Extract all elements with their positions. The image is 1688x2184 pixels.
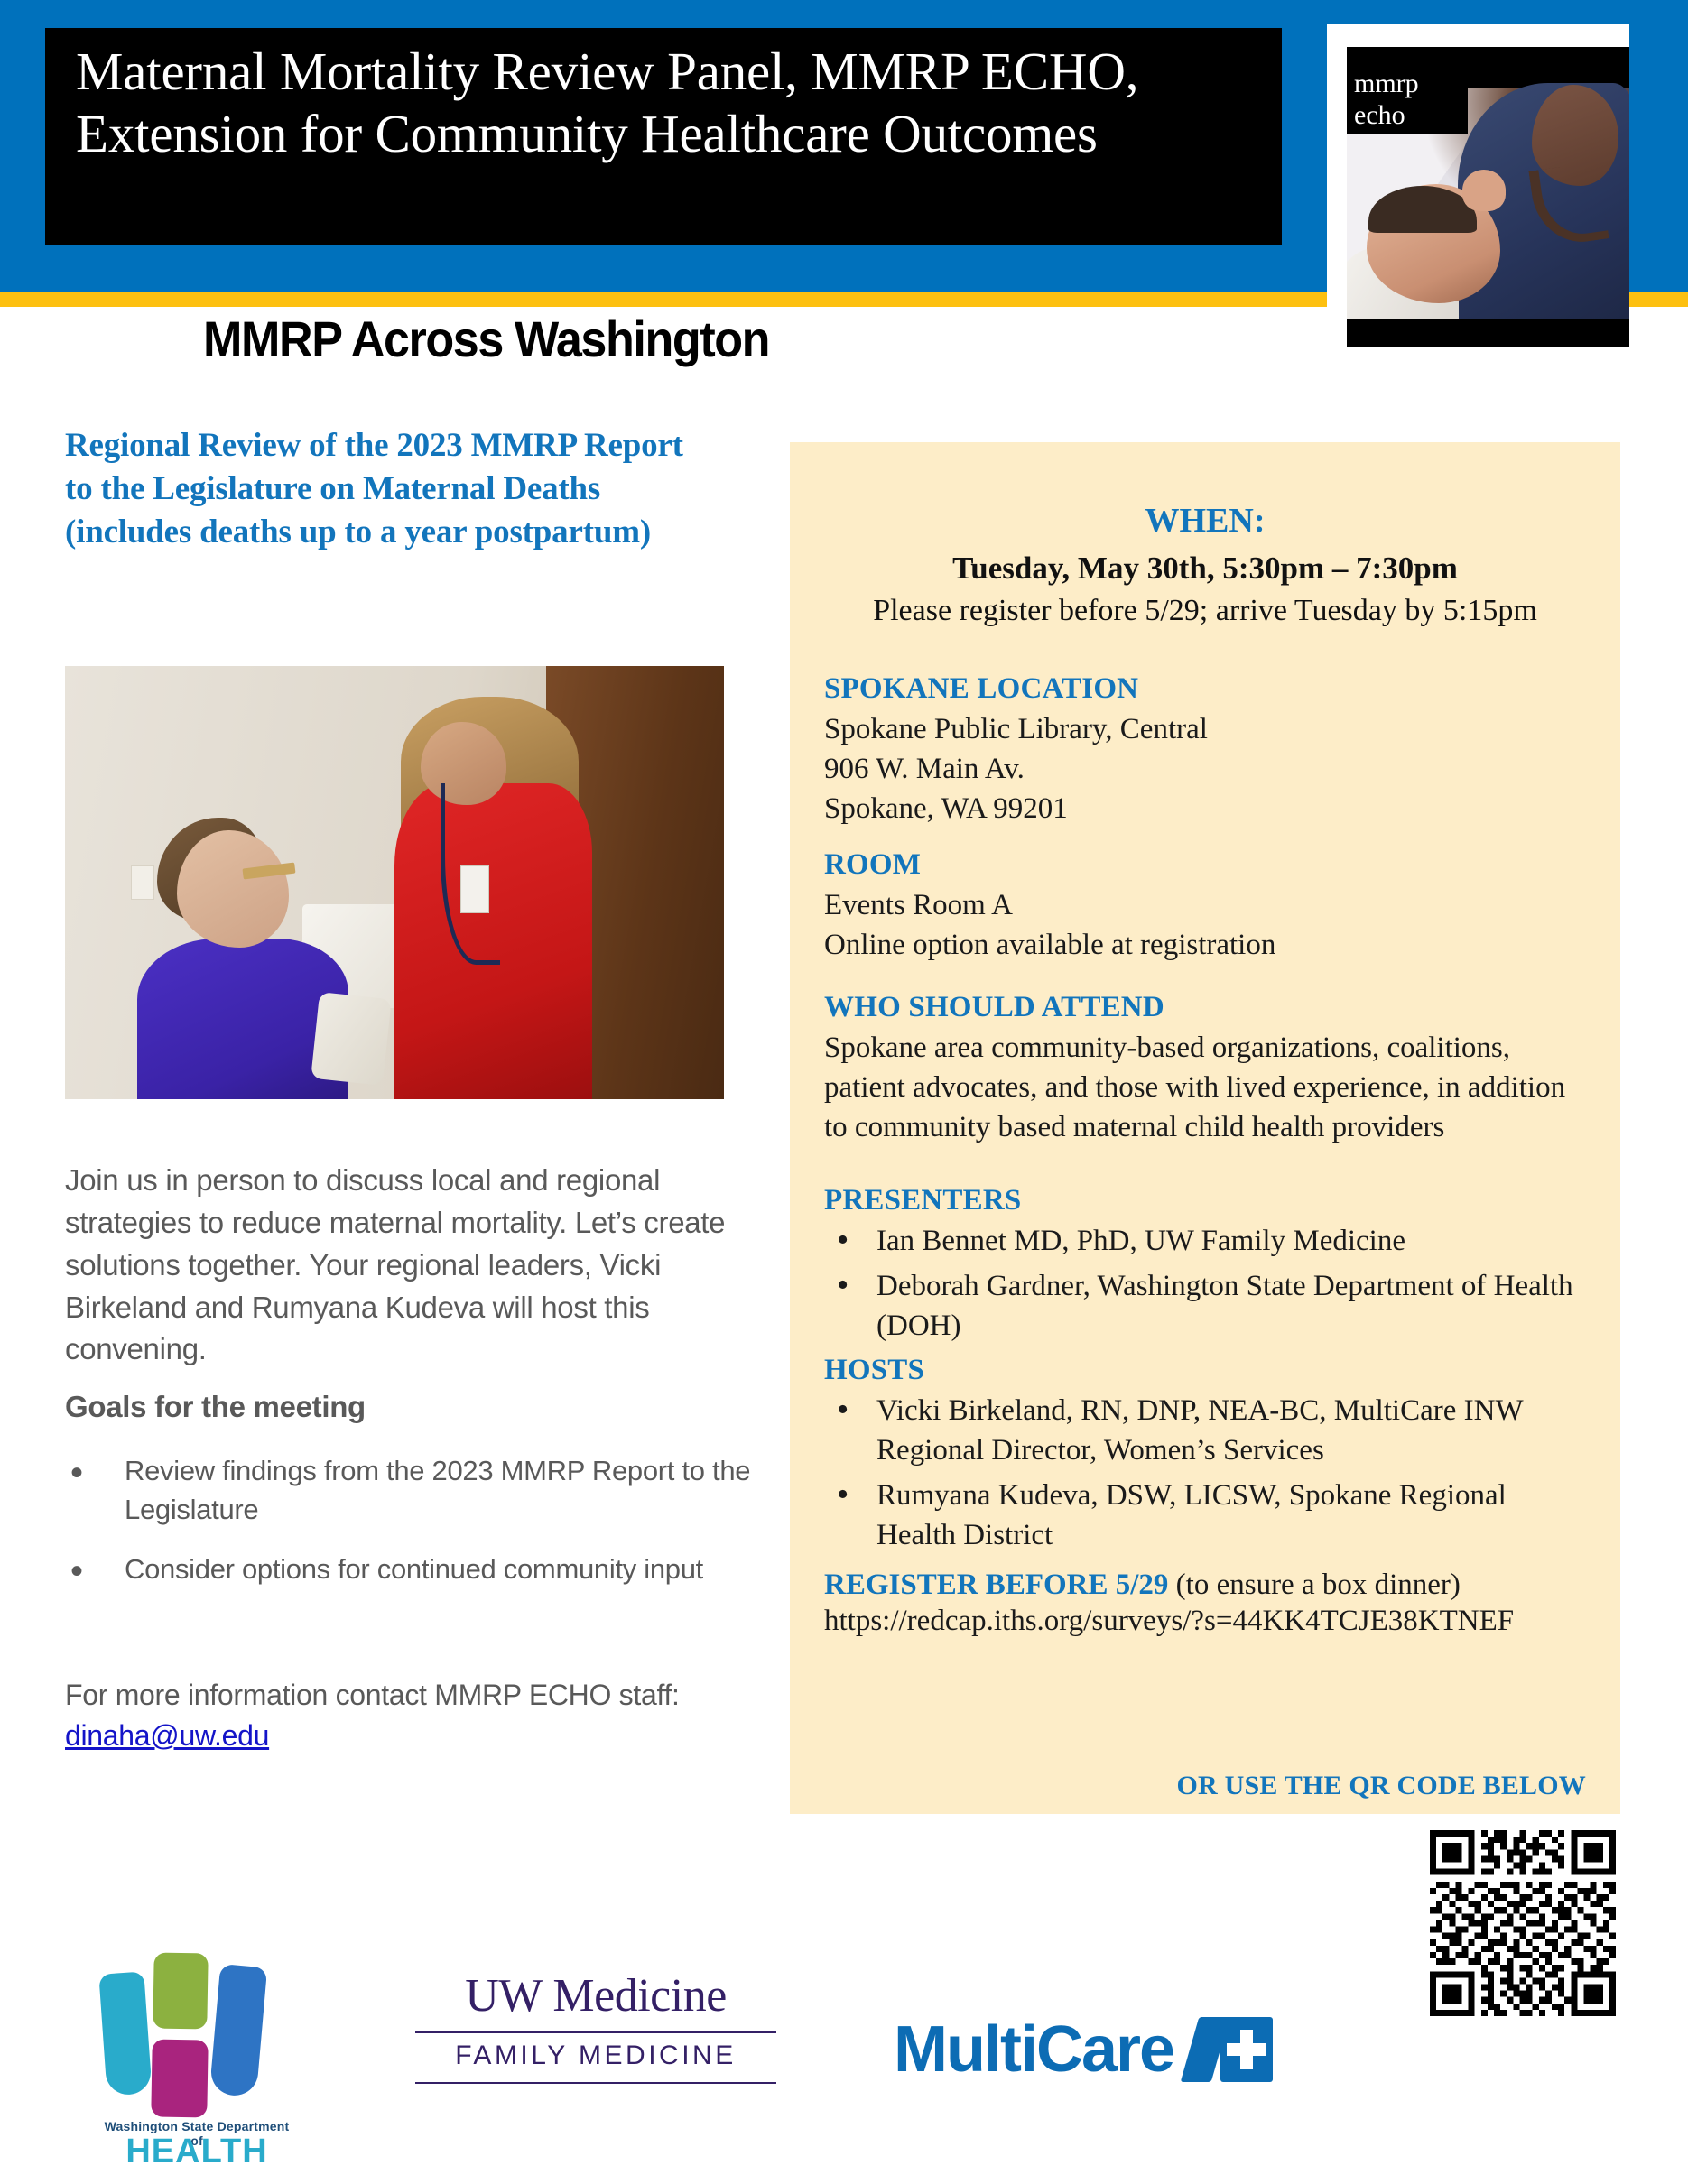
header-title-line1: Maternal Mortality Review Panel, MMRP EC… (76, 42, 1138, 101)
register-section: REGISTER BEFORE 5/29 (to ensure a box di… (824, 1569, 1591, 1642)
goals-list: Review findings from the 2023 MMRP Repor… (65, 1451, 751, 1608)
uw-rule-bottom (415, 2082, 776, 2084)
qr-code-graphic (1430, 1830, 1616, 2016)
multicare-cross-icon (1190, 2017, 1273, 2082)
left-column: Regional Review of the 2023 MMRP Report … (65, 424, 760, 554)
event-details-panel: WHEN: Tuesday, May 30th, 5:30pm – 7:30pm… (790, 442, 1620, 1814)
header-title-line2: Extension for Community Healthcare Outco… (76, 104, 1098, 163)
list-item: Rumyana Kudeva, DSW, LICSW, Spokane Regi… (824, 1476, 1591, 1556)
qr-code[interactable] (1430, 1830, 1616, 2016)
attendees-section: WHO SHOULD ATTEND Spokane area community… (824, 991, 1591, 1148)
presenters-list: Ian Bennet MD, PhD, UW Family Medicine D… (824, 1222, 1591, 1346)
cross-horizontal (1227, 2043, 1266, 2056)
doh-tile-magenta (151, 2039, 208, 2117)
list-item: Consider options for continued community… (65, 1550, 751, 1588)
register-note: (to ensure a box dinner) (1168, 1569, 1460, 1601)
register-heading: REGISTER BEFORE 5/29 (824, 1569, 1168, 1601)
header-title-box: Maternal Mortality Review Panel, MMRP EC… (45, 28, 1282, 245)
contact-email-link[interactable]: dinaha@uw.edu (65, 1719, 269, 1752)
flyer-page: Maternal Mortality Review Panel, MMRP EC… (0, 0, 1688, 2184)
uw-medicine-name: UW Medicine (415, 1969, 776, 2022)
register-line: REGISTER BEFORE 5/29 (to ensure a box di… (824, 1569, 1591, 1602)
mmrp-echo-wordmark: mmrp echo (1347, 62, 1468, 134)
list-item: Review findings from the 2023 MMRP Repor… (65, 1451, 751, 1530)
location-heading: SPOKANE LOCATION (824, 672, 1591, 706)
location-section: SPOKANE LOCATION Spokane Public Library,… (824, 672, 1591, 829)
multicare-wordmark: MultiCare (894, 2013, 1173, 2087)
room-section: ROOM Events Room A Online option availab… (824, 848, 1591, 966)
room-line: Online option available at registration (824, 926, 1591, 966)
photo-bottom-bar (1347, 319, 1629, 347)
qr-instruction: OR USE THE QR CODE BELOW (1176, 1771, 1586, 1801)
register-url[interactable]: https://redcap.iths.org/surveys/?s=44KK4… (824, 1602, 1591, 1642)
hosts-section: HOSTS Vicki Birkeland, RN, DNP, NEA-BC, … (824, 1354, 1591, 1561)
hosts-list: Vicki Birkeland, RN, DNP, NEA-BC, MultiC… (824, 1392, 1591, 1556)
contact-text: For more information contact MMRP ECHO s… (65, 1679, 680, 1711)
mmrp-echo-logo: mmrp echo (1327, 24, 1629, 356)
room-heading: ROOM (824, 848, 1591, 882)
intro-paragraph: Join us in person to discuss local and r… (65, 1160, 751, 1371)
attendees-heading: WHO SHOULD ATTEND (824, 991, 1591, 1024)
when-heading: WHEN: (790, 501, 1620, 541)
when-datetime: Tuesday, May 30th, 5:30pm – 7:30pm (790, 551, 1620, 587)
doh-health-word: HEALTH (97, 2133, 296, 2171)
uw-medicine-logo: UW Medicine FAMILY MEDICINE (415, 1969, 776, 2084)
clinic-photo (65, 666, 724, 1099)
logo-word-echo: echo (1354, 100, 1405, 130)
doh-tile-blue (209, 1964, 267, 2097)
list-item: Deborah Gardner, Washington State Depart… (824, 1267, 1591, 1346)
nurse-id-badge (460, 865, 489, 913)
attendees-body: Spokane area community-based organizatio… (824, 1029, 1591, 1148)
logo-word-mmrp: mmrp (1354, 69, 1419, 98)
page-subtitle: MMRP Across Washington (203, 310, 769, 368)
photo-wall-switch (131, 865, 154, 900)
uw-family-medicine-name: FAMILY MEDICINE (415, 2041, 776, 2071)
hosts-heading: HOSTS (824, 1354, 1591, 1387)
goals-heading: Goals for the meeting (65, 1390, 366, 1424)
room-line: Events Room A (824, 886, 1591, 926)
list-item: Ian Bennet MD, PhD, UW Family Medicine (824, 1222, 1591, 1262)
uw-rule-top (415, 2031, 776, 2033)
blood-pressure-cuff (311, 992, 393, 1086)
location-line: Spokane Public Library, Central (824, 710, 1591, 750)
location-line: Spokane, WA 99201 (824, 790, 1591, 829)
header-title: Maternal Mortality Review Panel, MMRP EC… (76, 41, 1138, 165)
presenters-section: PRESENTERS Ian Bennet MD, PhD, UW Family… (824, 1184, 1591, 1352)
location-line: 906 W. Main Av. (824, 750, 1591, 790)
presenters-heading: PRESENTERS (824, 1184, 1591, 1217)
multicare-logo: MultiCare (894, 2013, 1273, 2087)
baby-hand (1462, 170, 1506, 211)
doh-tile-cyan (98, 1971, 152, 2096)
contact-paragraph: For more information contact MMRP ECHO s… (65, 1675, 769, 1757)
lead-heading: Regional Review of the 2023 MMRP Report … (65, 424, 697, 554)
wa-doh-logo: Washington State Department of HEALTH (97, 1949, 296, 2157)
doh-tile-green (153, 1952, 208, 2029)
when-register-note: Please register before 5/29; arrive Tues… (790, 594, 1620, 628)
list-item: Vicki Birkeland, RN, DNP, NEA-BC, MultiC… (824, 1392, 1591, 1471)
